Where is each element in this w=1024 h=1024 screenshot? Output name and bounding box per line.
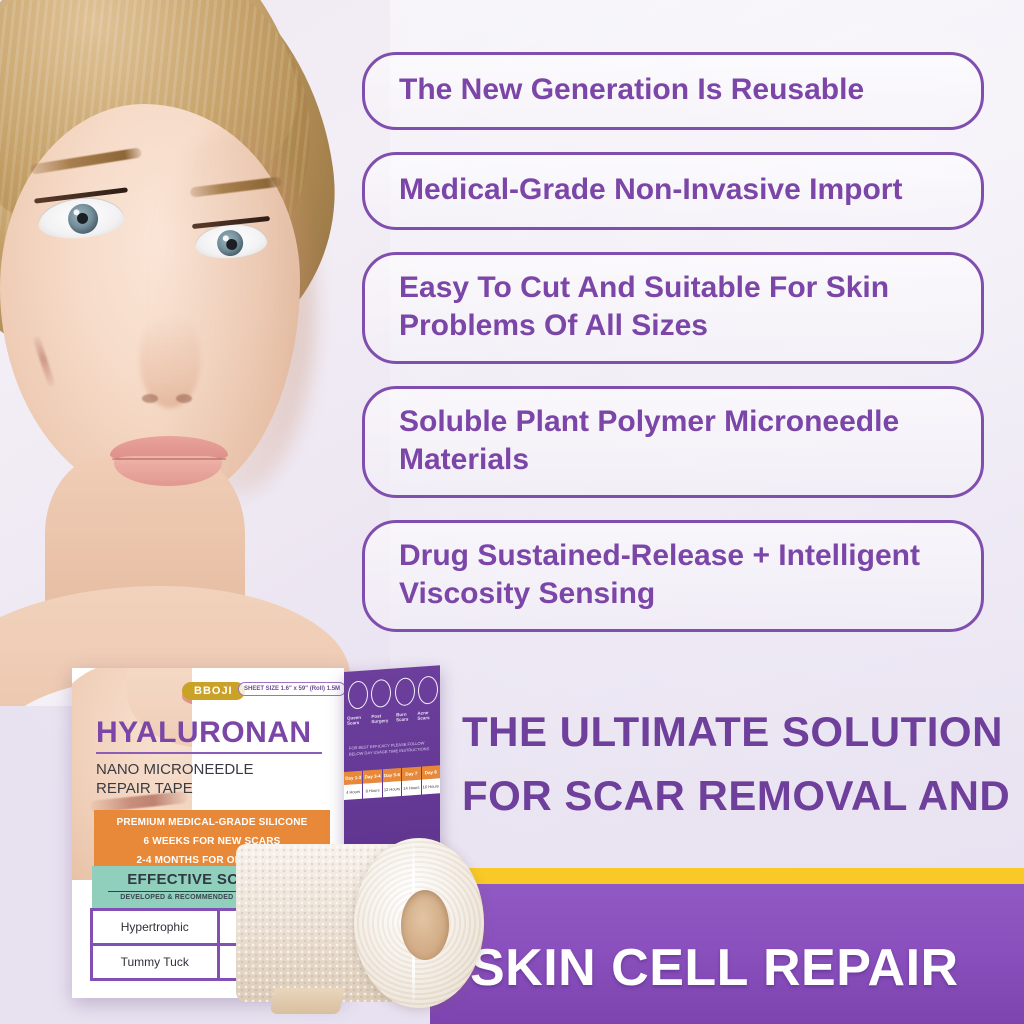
tape-roll xyxy=(236,838,484,1008)
side-caption: Post Surgery xyxy=(371,712,396,724)
box-brand-rule xyxy=(96,752,322,754)
tape-roll-core xyxy=(401,890,449,960)
feature-pill-4: Soluble Plant Polymer Microneedle Materi… xyxy=(362,386,984,498)
scar-type-icon xyxy=(371,679,391,708)
headline-line-2: FOR SCAR REMOVAL AND xyxy=(462,764,1022,828)
side-caption: Burn Scars xyxy=(396,711,417,722)
side-icon-row xyxy=(348,675,438,709)
box-subtitle-line-2: REPAIR TAPE xyxy=(96,779,254,798)
tape-roll-loose-end xyxy=(269,988,345,1014)
side-schedule-value: 8 Hours xyxy=(363,782,381,798)
box-brand-badge: BBOJI xyxy=(182,682,245,700)
box-brand-name: HYALURONAN xyxy=(96,716,312,750)
box-size-badge: SHEET SIZE 1.6" x 59" (Roll) 1.5M xyxy=(238,682,344,696)
headline-line-1: THE ULTIMATE SOLUTION xyxy=(462,700,1022,764)
side-caption: Queen Scars xyxy=(347,714,371,726)
model-iris-right xyxy=(216,229,244,257)
model-lips xyxy=(110,436,228,488)
model-nostril-left xyxy=(142,394,158,403)
headline: THE ULTIMATE SOLUTION FOR SCAR REMOVAL A… xyxy=(462,700,1022,828)
table-cell: Tummy Tuck xyxy=(93,946,217,978)
side-body-text: FOR BEST EFFICACY PLEASE FOLLOW BELOW DA… xyxy=(349,740,435,758)
side-schedule-value: 14 Hours xyxy=(402,780,420,796)
orange-band-line-1: PREMIUM MEDICAL-GRADE SILICONE xyxy=(94,813,330,832)
side-icon-captions: Queen Scars Post Surgery Burn Scars Acne… xyxy=(347,709,439,725)
bottom-banner: SKIN CELL REPAIR xyxy=(430,868,1024,1024)
product-marketing-graphic: The New Generation Is Reusable Medical-G… xyxy=(0,0,1024,1024)
feature-pill-2: Medical-Grade Non-Invasive Import xyxy=(362,152,984,230)
side-schedule-table: Day 1-3 Day 3-4 Day 5-6 Day 7 Day 8 4 Ho… xyxy=(344,765,440,800)
banner-text: SKIN CELL REPAIR xyxy=(470,938,959,998)
side-schedule-value: 12 Hours xyxy=(383,781,401,797)
feature-pill-1: The New Generation Is Reusable xyxy=(362,52,984,130)
side-caption: Acne Scars xyxy=(417,709,439,721)
side-schedule-value: 16 Hours xyxy=(422,778,440,794)
scar-type-icon xyxy=(418,675,438,704)
table-cell: Hypertrophic xyxy=(93,911,217,943)
model-lip-line xyxy=(112,458,226,460)
feature-list: The New Generation Is Reusable Medical-G… xyxy=(362,52,984,654)
model-photo xyxy=(0,0,390,706)
model-iris-left xyxy=(67,203,100,236)
feature-pill-3: Easy To Cut And Suitable For Skin Proble… xyxy=(362,252,984,364)
scar-type-icon xyxy=(348,680,368,709)
model-nostril-right xyxy=(176,394,192,403)
box-subtitle-line-1: NANO MICRONEEDLE xyxy=(96,760,254,779)
feature-pill-5: Drug Sustained-Release + Intelligent Vis… xyxy=(362,520,984,632)
model-lower-lip xyxy=(114,456,222,486)
scar-type-icon xyxy=(395,677,415,706)
side-schedule-value: 4 Hours xyxy=(344,784,362,800)
box-subtitle: NANO MICRONEEDLE REPAIR TAPE xyxy=(96,760,254,798)
